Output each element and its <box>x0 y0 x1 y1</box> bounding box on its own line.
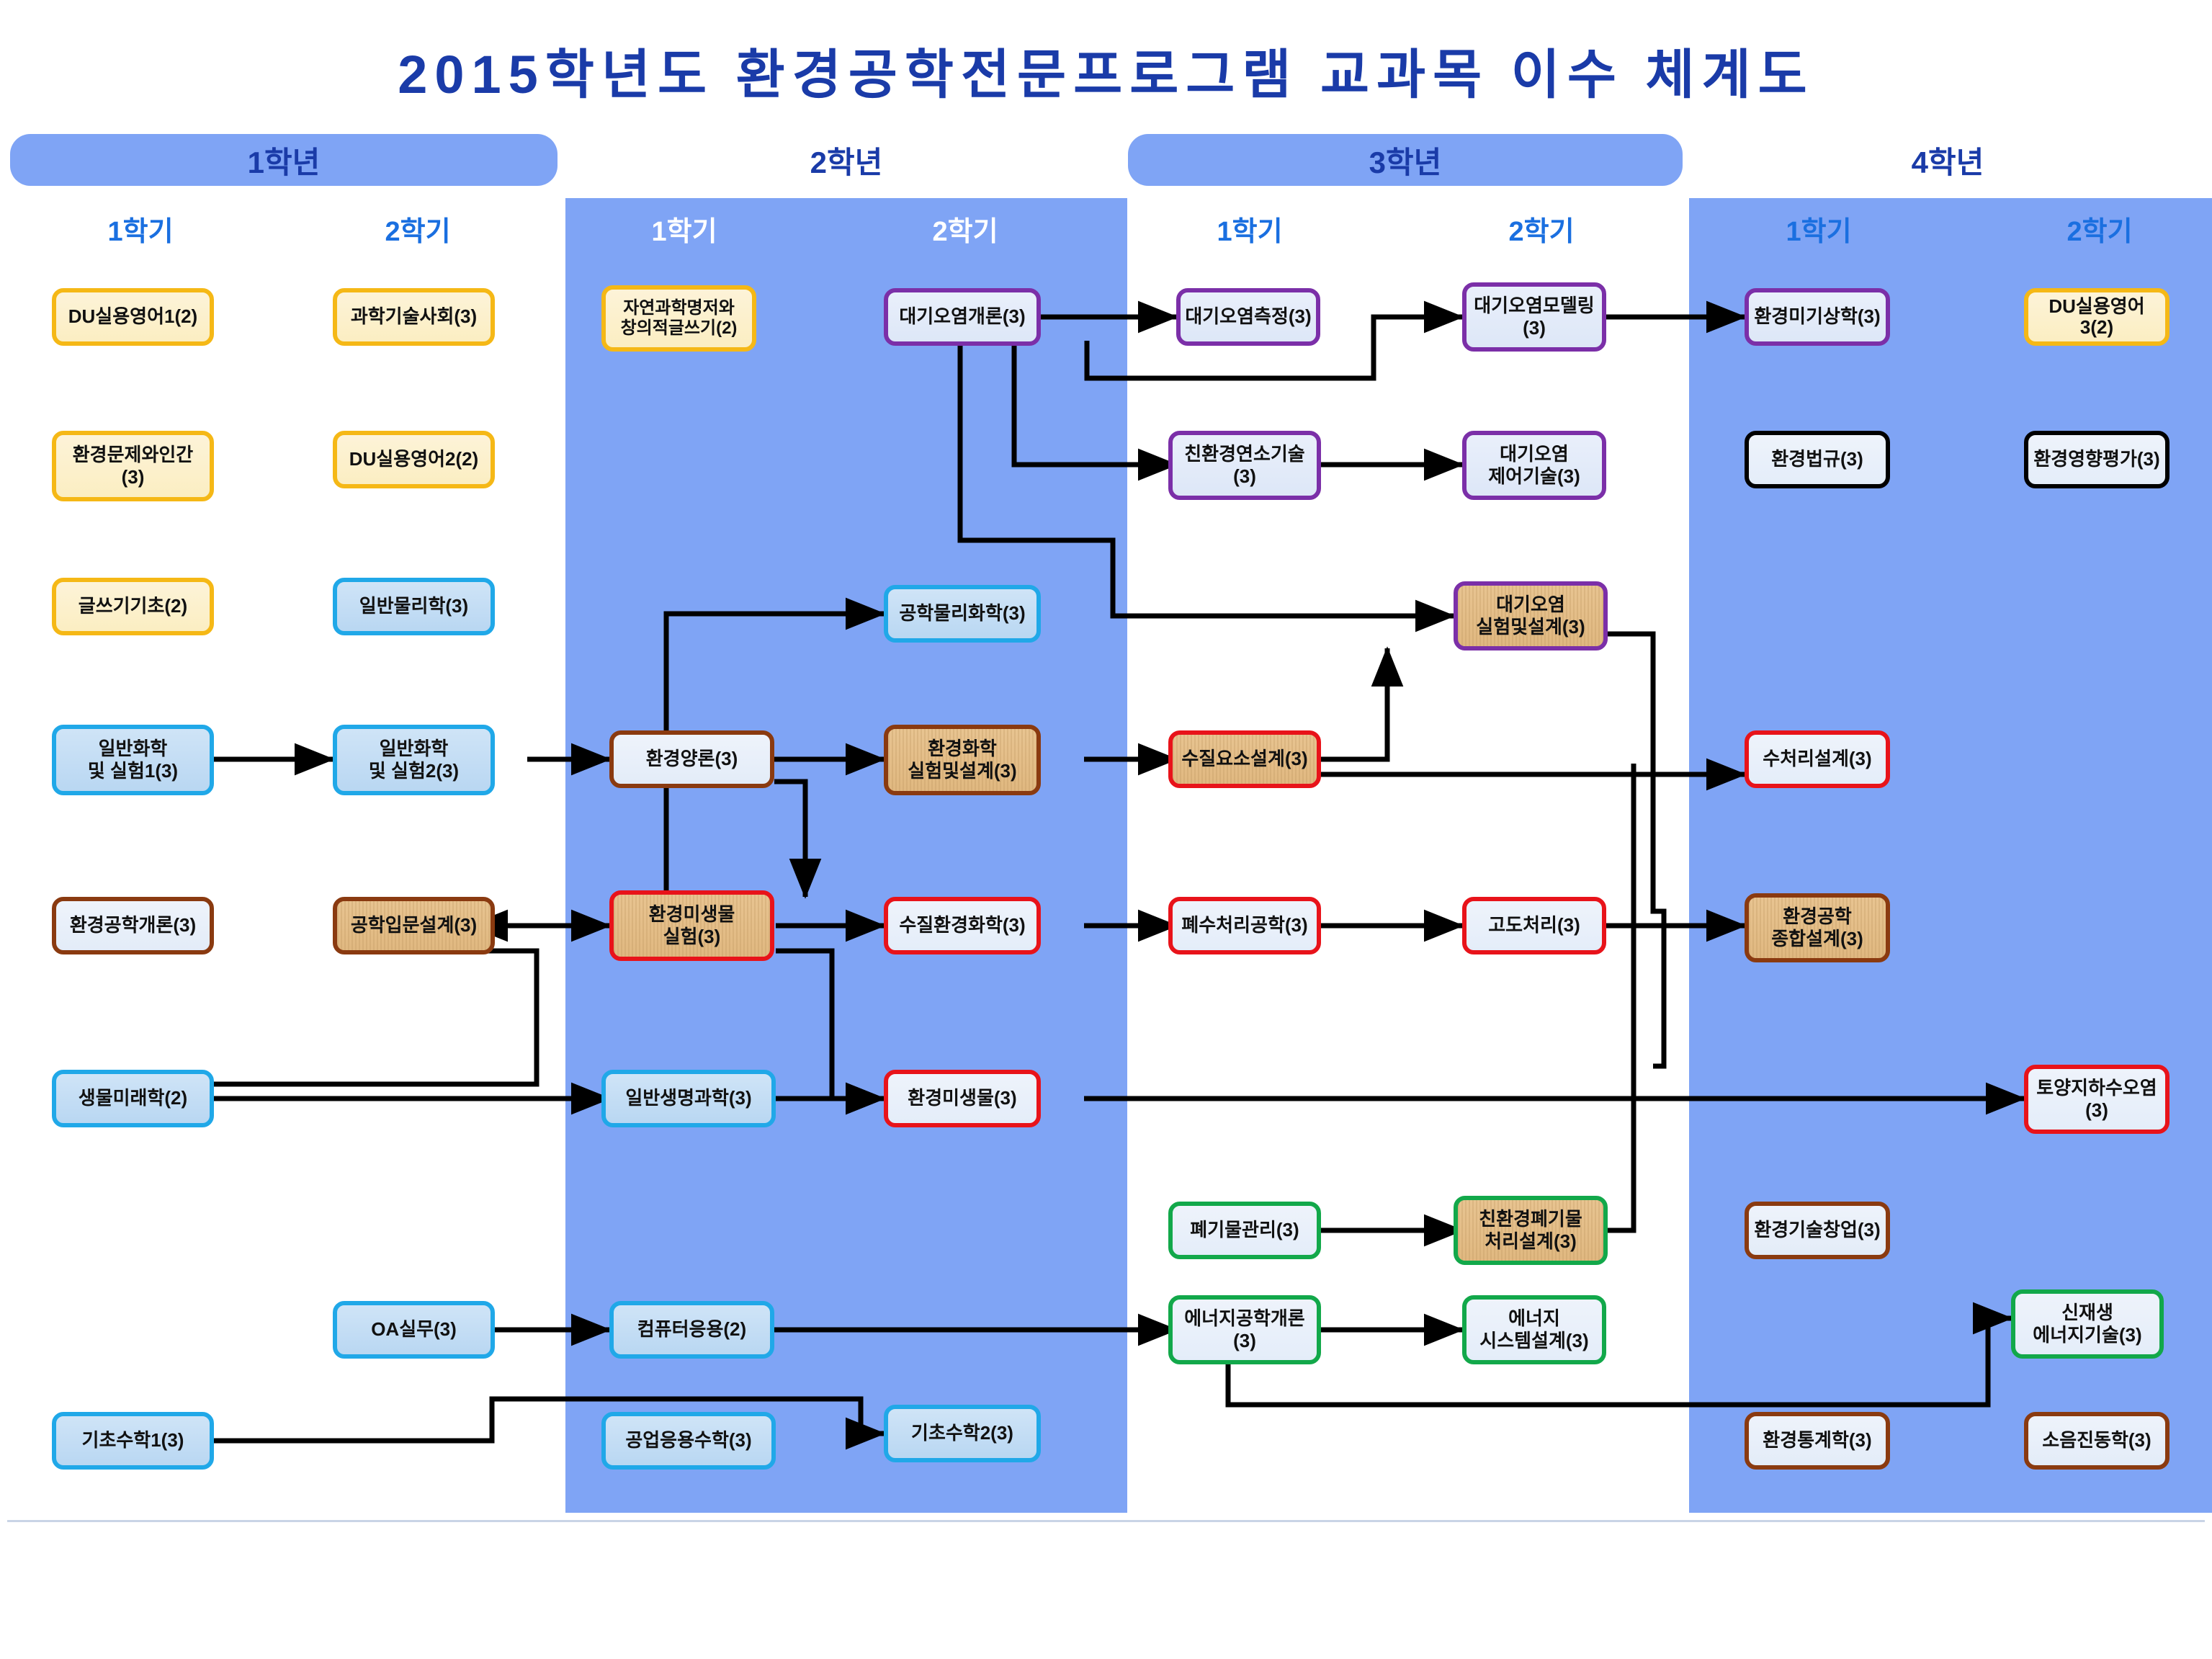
sem-label-y1s2: 2학기 <box>310 209 526 249</box>
course-box[interactable]: 대기오염제어기술(3) <box>1462 431 1606 500</box>
course-box[interactable]: 에너지시스템설계(3) <box>1462 1295 1606 1364</box>
course-box[interactable]: 환경공학종합설계(3) <box>1745 893 1890 962</box>
course-box[interactable]: 환경미생물실험(3) <box>609 890 774 961</box>
course-box[interactable]: 공학입문설계(3) <box>333 897 495 954</box>
sem-label-y4s2: 2학기 <box>1992 209 2208 249</box>
course-box[interactable]: 에너지공학개론(3) <box>1168 1295 1321 1364</box>
course-box[interactable]: 기초수학2(3) <box>884 1405 1041 1462</box>
course-box[interactable]: DU실용영어3(2) <box>2024 288 2170 346</box>
course-box[interactable]: 환경통계학(3) <box>1745 1412 1890 1470</box>
course-box[interactable]: 폐수처리공학(3) <box>1168 897 1321 954</box>
course-box[interactable]: 환경공학개론(3) <box>52 897 214 954</box>
course-box[interactable]: OA실무(3) <box>333 1301 495 1359</box>
course-box[interactable]: 수질환경화학(3) <box>884 897 1041 954</box>
year-header-3: 3학년 <box>1128 134 1683 186</box>
course-box[interactable]: 환경양론(3) <box>609 730 774 788</box>
course-box[interactable]: 컴퓨터응용(2) <box>609 1301 774 1359</box>
year-header-1: 1학년 <box>10 134 558 186</box>
course-box[interactable]: 대기오염개론(3) <box>884 288 1041 346</box>
course-box[interactable]: 환경미기상학(3) <box>1745 288 1890 346</box>
course-box[interactable]: 대기오염실험및설계(3) <box>1454 581 1608 650</box>
year-header-2: 2학년 <box>569 134 1124 186</box>
course-box[interactable]: 친환경폐기물처리설계(3) <box>1454 1196 1608 1265</box>
course-box[interactable]: 공업응용수학(3) <box>601 1412 776 1470</box>
sem-label-y4s1: 1학기 <box>1711 209 1927 249</box>
course-box[interactable]: 수처리설계(3) <box>1745 730 1890 788</box>
course-box[interactable]: 대기오염모델링(3) <box>1462 282 1606 352</box>
course-box[interactable]: 공학물리화학(3) <box>884 585 1041 643</box>
course-box[interactable]: 환경법규(3) <box>1745 431 1890 488</box>
course-box[interactable]: 환경화학실험및설계(3) <box>884 725 1041 795</box>
course-box[interactable]: 고도처리(3) <box>1462 897 1606 954</box>
course-box[interactable]: 신재생에너지기술(3) <box>2011 1289 2164 1359</box>
course-box[interactable]: 생물미래학(2) <box>52 1070 214 1127</box>
course-box[interactable]: 대기오염측정(3) <box>1176 288 1320 346</box>
course-box[interactable]: 글쓰기기초(2) <box>52 578 214 635</box>
sem-label-y3s2: 2학기 <box>1433 209 1649 249</box>
course-box[interactable]: DU실용영어1(2) <box>52 288 214 346</box>
course-box[interactable]: 환경미생물(3) <box>884 1070 1041 1127</box>
legend-divider <box>7 1520 2205 1522</box>
course-box[interactable]: 환경영향평가(3) <box>2024 431 2170 488</box>
course-box[interactable]: 토양지하수오염(3) <box>2024 1065 2170 1134</box>
course-box[interactable]: 수질요소설계(3) <box>1168 730 1321 788</box>
course-box[interactable]: 과학기술사회(3) <box>333 288 495 346</box>
course-box[interactable]: 환경문제와인간(3) <box>52 431 214 501</box>
course-box[interactable]: 일반화학및 실험2(3) <box>333 725 495 795</box>
sem-label-y2s1: 1학기 <box>576 209 792 249</box>
course-box[interactable]: DU실용영어2(2) <box>333 431 495 488</box>
course-box[interactable]: 소음진동학(3) <box>2024 1412 2170 1470</box>
sem-label-y3s1: 1학기 <box>1142 209 1358 249</box>
course-box[interactable]: 기초수학1(3) <box>52 1412 214 1470</box>
course-box[interactable]: 폐기물관리(3) <box>1168 1202 1321 1259</box>
course-box[interactable]: 자연과학명저와창의적글쓰기(2) <box>601 285 756 352</box>
curriculum-flowchart-page: 2015학년도 환경공학전문프로그램 교과목 이수 체계도 1학년 2학년 3학… <box>0 0 2212 1659</box>
course-box[interactable]: 환경기술창업(3) <box>1745 1202 1890 1259</box>
course-box[interactable]: 일반물리학(3) <box>333 578 495 635</box>
year-header-4: 4학년 <box>1688 134 2207 186</box>
course-box[interactable]: 친환경연소기술(3) <box>1168 431 1321 500</box>
course-box[interactable]: 일반화학및 실험1(3) <box>52 725 214 795</box>
sem-label-y2s2: 2학기 <box>857 209 1073 249</box>
course-box[interactable]: 일반생명과학(3) <box>601 1070 776 1127</box>
legend: 전문교양 MSC과목 전공공통 대기 수질 폐기물 환경영향평가 설계과목 선후… <box>0 1527 2212 1642</box>
sem-label-y1s1: 1학기 <box>32 209 248 249</box>
page-title: 2015학년도 환경공학전문프로그램 교과목 이수 체계도 <box>0 32 2212 109</box>
